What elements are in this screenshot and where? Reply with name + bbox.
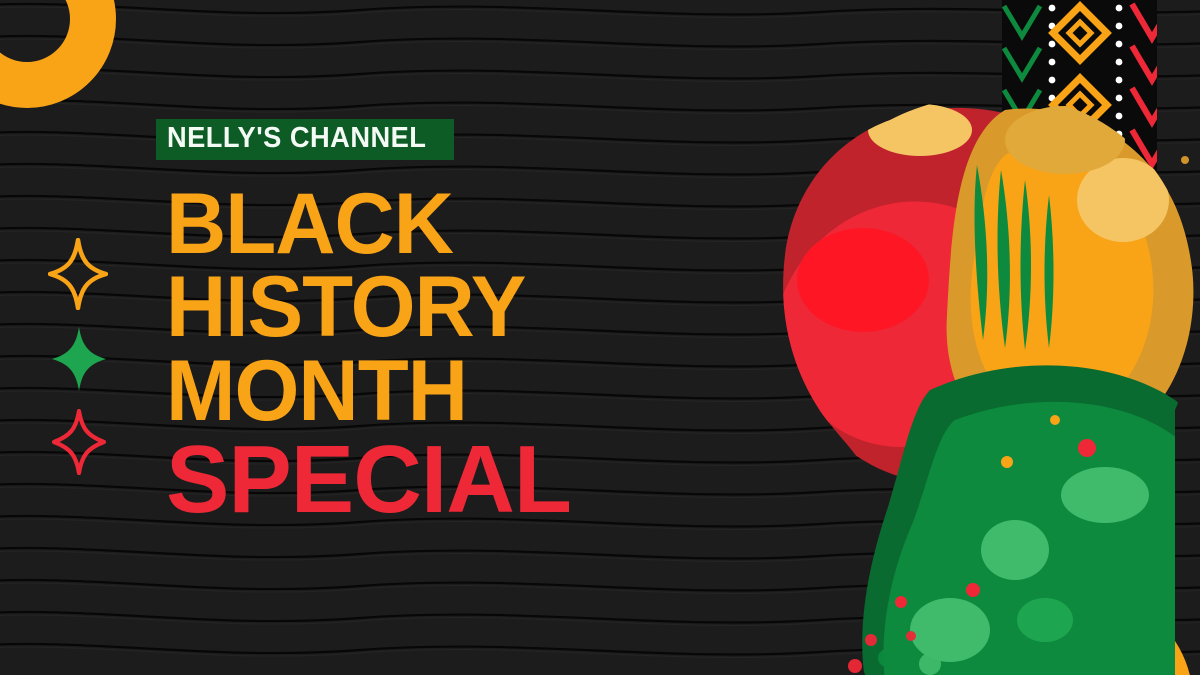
page-title: BLACK HISTORY MONTH: [166, 183, 786, 433]
headline-line-3: MONTH: [166, 350, 767, 433]
splatter-green-blob-4: [1017, 598, 1073, 642]
splatter-amber-pale-3: [1005, 106, 1125, 174]
splatter-green-blob-3: [1061, 467, 1149, 523]
splatter-amber-pale-2: [868, 104, 972, 156]
subtitle-special: SPECIAL: [166, 432, 571, 528]
thumbnail-canvas: NELLY'S CHANNEL BLACK HISTORY MONTH SPEC…: [0, 0, 1200, 675]
sparkle-red-icon: [52, 409, 106, 475]
headline-line-1: BLACK: [166, 183, 767, 266]
sparkle-green-icon: [50, 325, 108, 393]
channel-badge: NELLY'S CHANNEL: [156, 119, 454, 160]
sparkle-amber-icon: [48, 238, 108, 310]
headline-line-2: HISTORY: [166, 266, 767, 349]
afro-silhouette-splatter-artwork: [715, 0, 1200, 675]
channel-badge-label: NELLY'S CHANNEL: [167, 124, 426, 153]
splatter-red-highlight: [797, 228, 929, 332]
splatter-green-blob-2: [910, 598, 990, 662]
splatter-green-blob-1: [981, 520, 1049, 580]
